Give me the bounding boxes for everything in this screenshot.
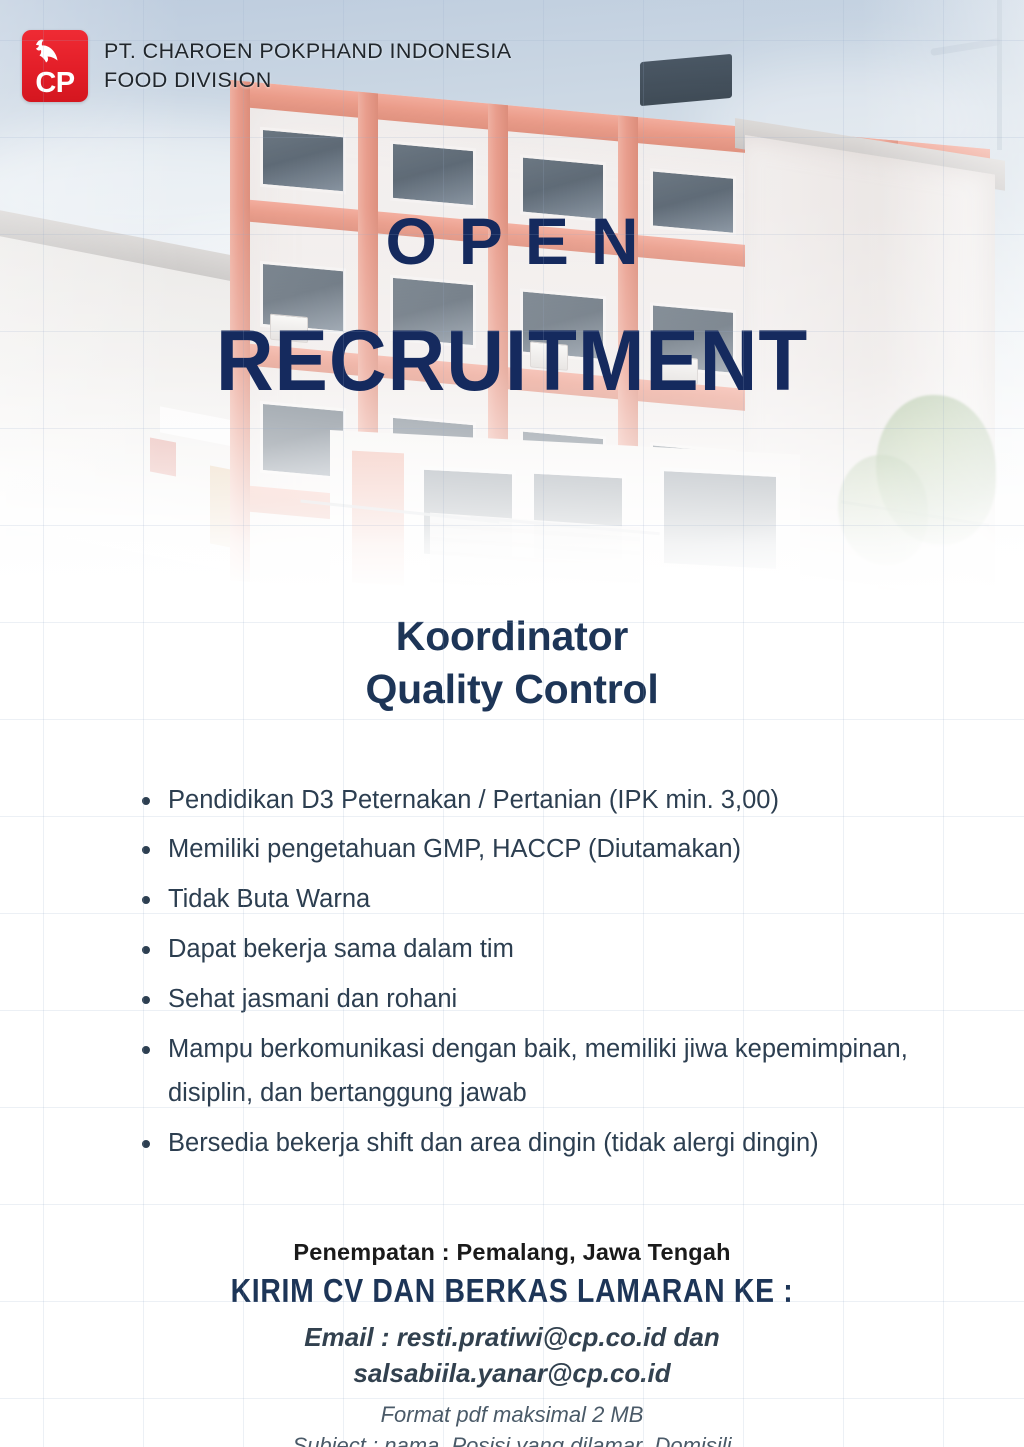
poster-footer: Penempatan : Pemalang, Jawa Tengah KIRIM… <box>0 1239 1024 1447</box>
subject-note: Subject : nama_Posisi yang dilamar_Domis… <box>0 1431 1024 1447</box>
poster-body: Koordinator Quality Control Pendidikan D… <box>0 592 1024 1447</box>
format-note: Format pdf maksimal 2 MB <box>0 1400 1024 1430</box>
recruitment-poster: CP PT. CHAROEN POKPHAND INDONESIA FOOD D… <box>0 0 1024 1447</box>
requirements-list: Pendidikan D3 Peternakan / Pertanian (IP… <box>0 779 1024 1166</box>
email-line-2: salsabiila.yanar@cp.co.id <box>0 1356 1024 1392</box>
email-line-1: Email : resti.pratiwi@cp.co.id dan <box>0 1320 1024 1356</box>
headline-recruitment: RECRUITMENT <box>36 318 988 404</box>
requirement-item: Memiliki pengetahuan GMP, HACCP (Diutama… <box>140 828 964 872</box>
placement-text: Penempatan : Pemalang, Jawa Tengah <box>0 1239 1024 1266</box>
job-title-line1: Koordinator <box>396 613 628 659</box>
requirement-item: Sehat jasmani dan rohani <box>140 978 964 1022</box>
bird-icon <box>30 36 64 70</box>
company-name-line2: FOOD DIVISION <box>104 66 511 95</box>
requirement-item: Pendidikan D3 Peternakan / Pertanian (IP… <box>140 779 964 823</box>
send-cv-heading: KIRIM CV DAN BERKAS LAMARAN KE : <box>72 1272 953 1310</box>
requirement-item: Dapat bekerja sama dalam tim <box>140 928 964 972</box>
cp-logo-text: CP <box>22 69 88 98</box>
company-name: PT. CHAROEN POKPHAND INDONESIA FOOD DIVI… <box>104 37 511 94</box>
company-name-line1: PT. CHAROEN POKPHAND INDONESIA <box>104 37 511 66</box>
company-header: CP PT. CHAROEN POKPHAND INDONESIA FOOD D… <box>22 30 511 102</box>
requirement-item: Tidak Buta Warna <box>140 878 964 922</box>
cp-logo: CP <box>22 30 88 102</box>
job-title-line2: Quality Control <box>0 663 1024 716</box>
requirement-item: Mampu berkomunikasi dengan baik, memilik… <box>140 1028 964 1116</box>
job-title: Koordinator Quality Control <box>0 610 1024 717</box>
requirement-item: Bersedia bekerja shift dan area dingin (… <box>140 1122 964 1166</box>
headline-open: OPEN <box>0 208 1024 274</box>
